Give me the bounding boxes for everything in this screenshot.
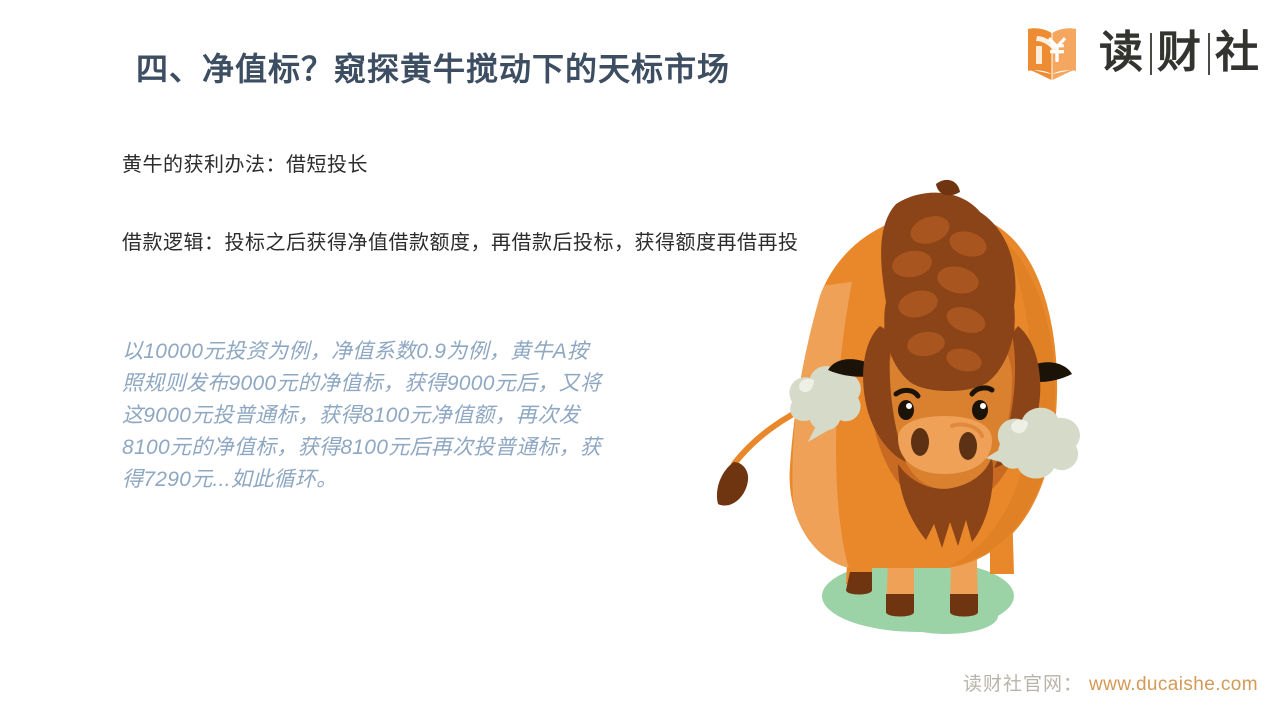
open-book-yen-icon	[1024, 24, 1080, 82]
example-quote-block: 以10000元投资为例，净值系数0.9为例，黄牛A按照规则发布9000元的净值标…	[122, 336, 602, 496]
footer-label: 读财社官网：	[963, 669, 1083, 696]
footer-website-url: www.ducaishe.com	[1089, 674, 1258, 696]
brand-wordmark: 读 财 社	[1092, 31, 1266, 75]
footer: 读财社官网： www.ducaishe.com	[963, 669, 1258, 696]
paragraph-profit-method: 黄牛的获利办法：借短投长	[122, 150, 368, 181]
cartoon-bull-illustration	[700, 176, 1120, 646]
brand-char-3: 社	[1208, 31, 1266, 75]
brand-logo: 读 财 社	[1024, 24, 1266, 82]
brand-char-1: 读	[1092, 31, 1150, 75]
brand-char-2: 财	[1150, 31, 1208, 75]
page-title: 四、净值标？窥探黄牛搅动下的天标市场	[136, 44, 730, 90]
snout	[898, 416, 992, 474]
slide-canvas: 四、净值标？窥探黄牛搅动下的天标市场 读 财	[0, 0, 1280, 720]
